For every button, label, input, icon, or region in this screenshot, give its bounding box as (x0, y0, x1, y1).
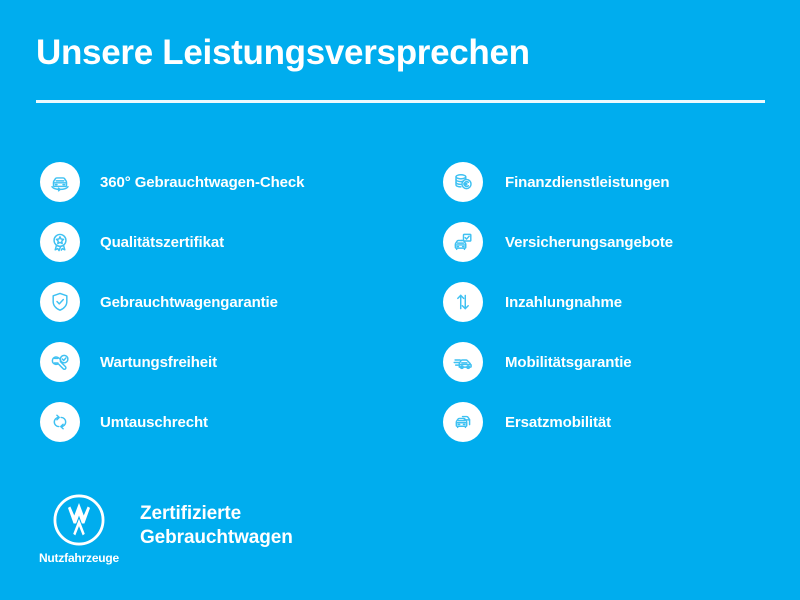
volkswagen-roundel-icon (51, 492, 107, 548)
car-motion-icon (443, 342, 483, 382)
title-divider (36, 100, 765, 103)
list-item: Versicherungsangebote (443, 212, 793, 272)
car-checkbox-icon (443, 222, 483, 262)
list-item: Finanzdienstleistungen (443, 152, 793, 212)
footer-lockup: Nutzfahrzeuge Zertifizierte Gebrauchtwag… (36, 492, 293, 565)
two-cars-icon (443, 402, 483, 442)
benefit-label: Umtauschrecht (100, 414, 208, 431)
benefits-right-column: Finanzdienstleistungen Versicheru (443, 152, 793, 452)
benefit-label: Qualitätszertifikat (100, 234, 224, 251)
quality-medal-icon (40, 222, 80, 262)
benefit-label: Gebrauchtwagengarantie (100, 294, 278, 311)
benefit-label: Versicherungsangebote (505, 234, 673, 251)
exchange-arrows-icon (40, 402, 80, 442)
benefit-label: Mobilitätsgarantie (505, 354, 632, 371)
wrench-check-icon (40, 342, 80, 382)
benefit-label: Finanzdienstleistungen (505, 174, 669, 191)
footer-line-2: Gebrauchtwagen (140, 526, 293, 550)
shield-check-icon (40, 282, 80, 322)
list-item: Qualitätszertifikat (40, 212, 440, 272)
benefit-label: Wartungsfreiheit (100, 354, 217, 371)
list-item: Wartungsfreiheit (40, 332, 440, 392)
list-item: Inzahlungnahme (443, 272, 793, 332)
slide-canvas: Unsere Leistungsversprechen 360° Gebrauc… (0, 0, 800, 600)
footer-text: Zertifizierte Gebrauchtwagen (140, 502, 293, 549)
benefit-label: 360° Gebrauchtwagen-Check (100, 174, 304, 191)
list-item: Gebrauchtwagengarantie (40, 272, 440, 332)
list-item: Mobilitätsgarantie (443, 332, 793, 392)
logo-subtitle: Nutzfahrzeuge (39, 551, 119, 565)
page-title: Unsere Leistungsversprechen (36, 34, 766, 73)
benefit-label: Inzahlungnahme (505, 294, 622, 311)
header: Unsere Leistungsversprechen (36, 34, 766, 73)
up-down-arrows-icon (443, 282, 483, 322)
car-360-check-icon (40, 162, 80, 202)
brand-logo: Nutzfahrzeuge (36, 492, 122, 565)
benefits-left-column: 360° Gebrauchtwagen-Check Qualitätszerti… (40, 152, 440, 452)
list-item: Umtauschrecht (40, 392, 440, 452)
coins-euro-icon (443, 162, 483, 202)
list-item: Ersatzmobilität (443, 392, 793, 452)
benefit-label: Ersatzmobilität (505, 414, 611, 431)
list-item: 360° Gebrauchtwagen-Check (40, 152, 440, 212)
footer-line-1: Zertifizierte (140, 502, 293, 526)
